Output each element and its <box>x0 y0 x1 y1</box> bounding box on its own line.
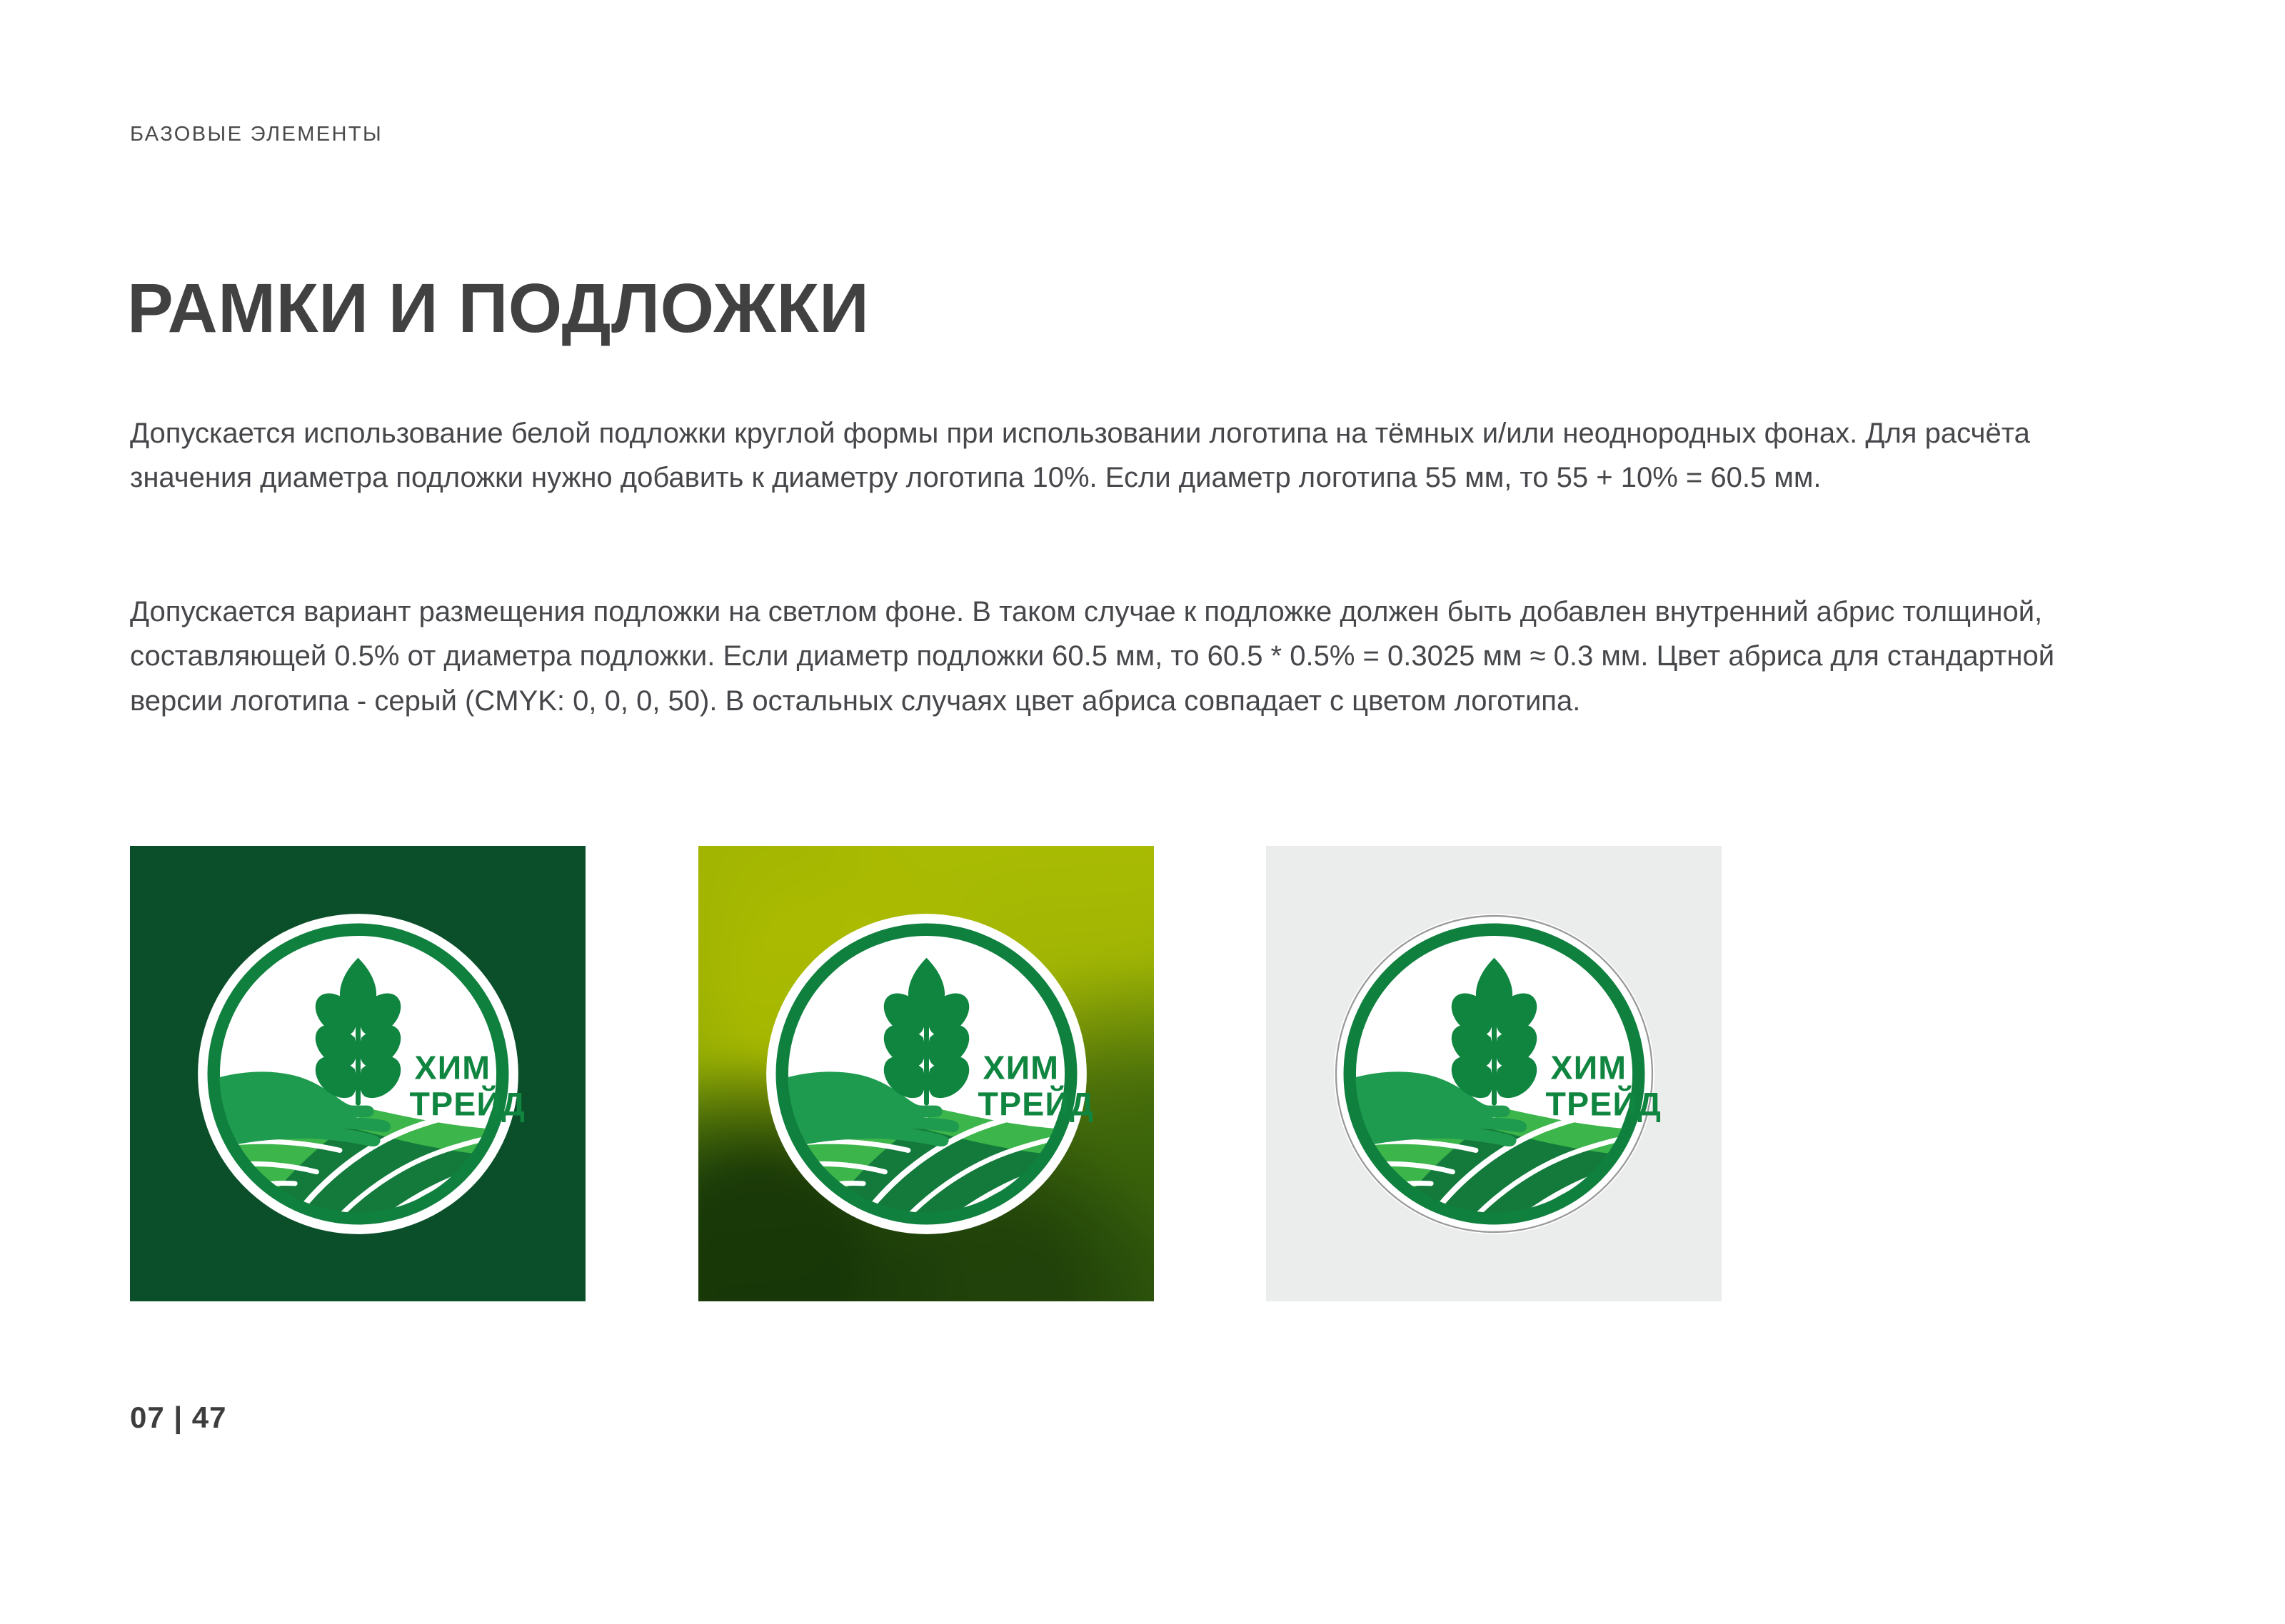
logo-example-panels: ХИМ ТРЕЙД <box>130 846 1729 1301</box>
wordmark-line-1: ХИМ <box>1550 1049 1627 1086</box>
panel-dark-green: ХИМ ТРЕЙД <box>130 846 586 1301</box>
wordmark-line-1: ХИМ <box>983 1049 1059 1086</box>
section-eyebrow: БАЗОВЫЕ ЭЛЕМЕНТЫ <box>130 123 383 146</box>
logo-on-light-grey: ХИМ ТРЕЙД <box>1266 846 1722 1301</box>
logo-svg-grey: ХИМ ТРЕЙД <box>1328 908 1660 1240</box>
logo-mark: ХИМ ТРЕЙД <box>192 908 524 1240</box>
panel-photo-background: ХИМ ТРЕЙД <box>698 846 1154 1301</box>
logo-on-dark-green: ХИМ ТРЕЙД <box>130 846 586 1301</box>
body-paragraph-1: Допускается использование белой подложки… <box>130 411 2101 500</box>
panel-light-grey: ХИМ ТРЕЙД <box>1266 846 1722 1301</box>
logo-mark: ХИМ ТРЕЙД <box>760 908 1093 1240</box>
wordmark-line-2: ТРЕЙД <box>978 1085 1092 1122</box>
paragraph-2-text: Допускается вариант размещения подложки … <box>130 590 2151 723</box>
paragraph-1-text: Допускается использование белой подложки… <box>130 411 2101 500</box>
brand-guideline-page: БАЗОВЫЕ ЭЛЕМЕНТЫ РАМКИ И ПОДЛОЖКИ Допуск… <box>0 0 2285 1624</box>
logo-svg-photo: ХИМ ТРЕЙД <box>760 908 1093 1240</box>
wordmark-line-1: ХИМ <box>414 1049 491 1086</box>
page-title: РАМКИ И ПОДЛОЖКИ <box>127 273 869 343</box>
wordmark-line-2: ТРЕЙД <box>1545 1085 1659 1122</box>
logo-mark: ХИМ ТРЕЙД <box>1328 908 1660 1240</box>
logo-on-photo: ХИМ ТРЕЙД <box>698 846 1154 1301</box>
page-number: 07 | 47 <box>130 1401 227 1435</box>
logo-svg-dark: ХИМ ТРЕЙД <box>192 908 524 1240</box>
wordmark-line-2: ТРЕЙД <box>409 1085 523 1122</box>
body-paragraph-2: Допускается вариант размещения подложки … <box>130 590 2151 723</box>
